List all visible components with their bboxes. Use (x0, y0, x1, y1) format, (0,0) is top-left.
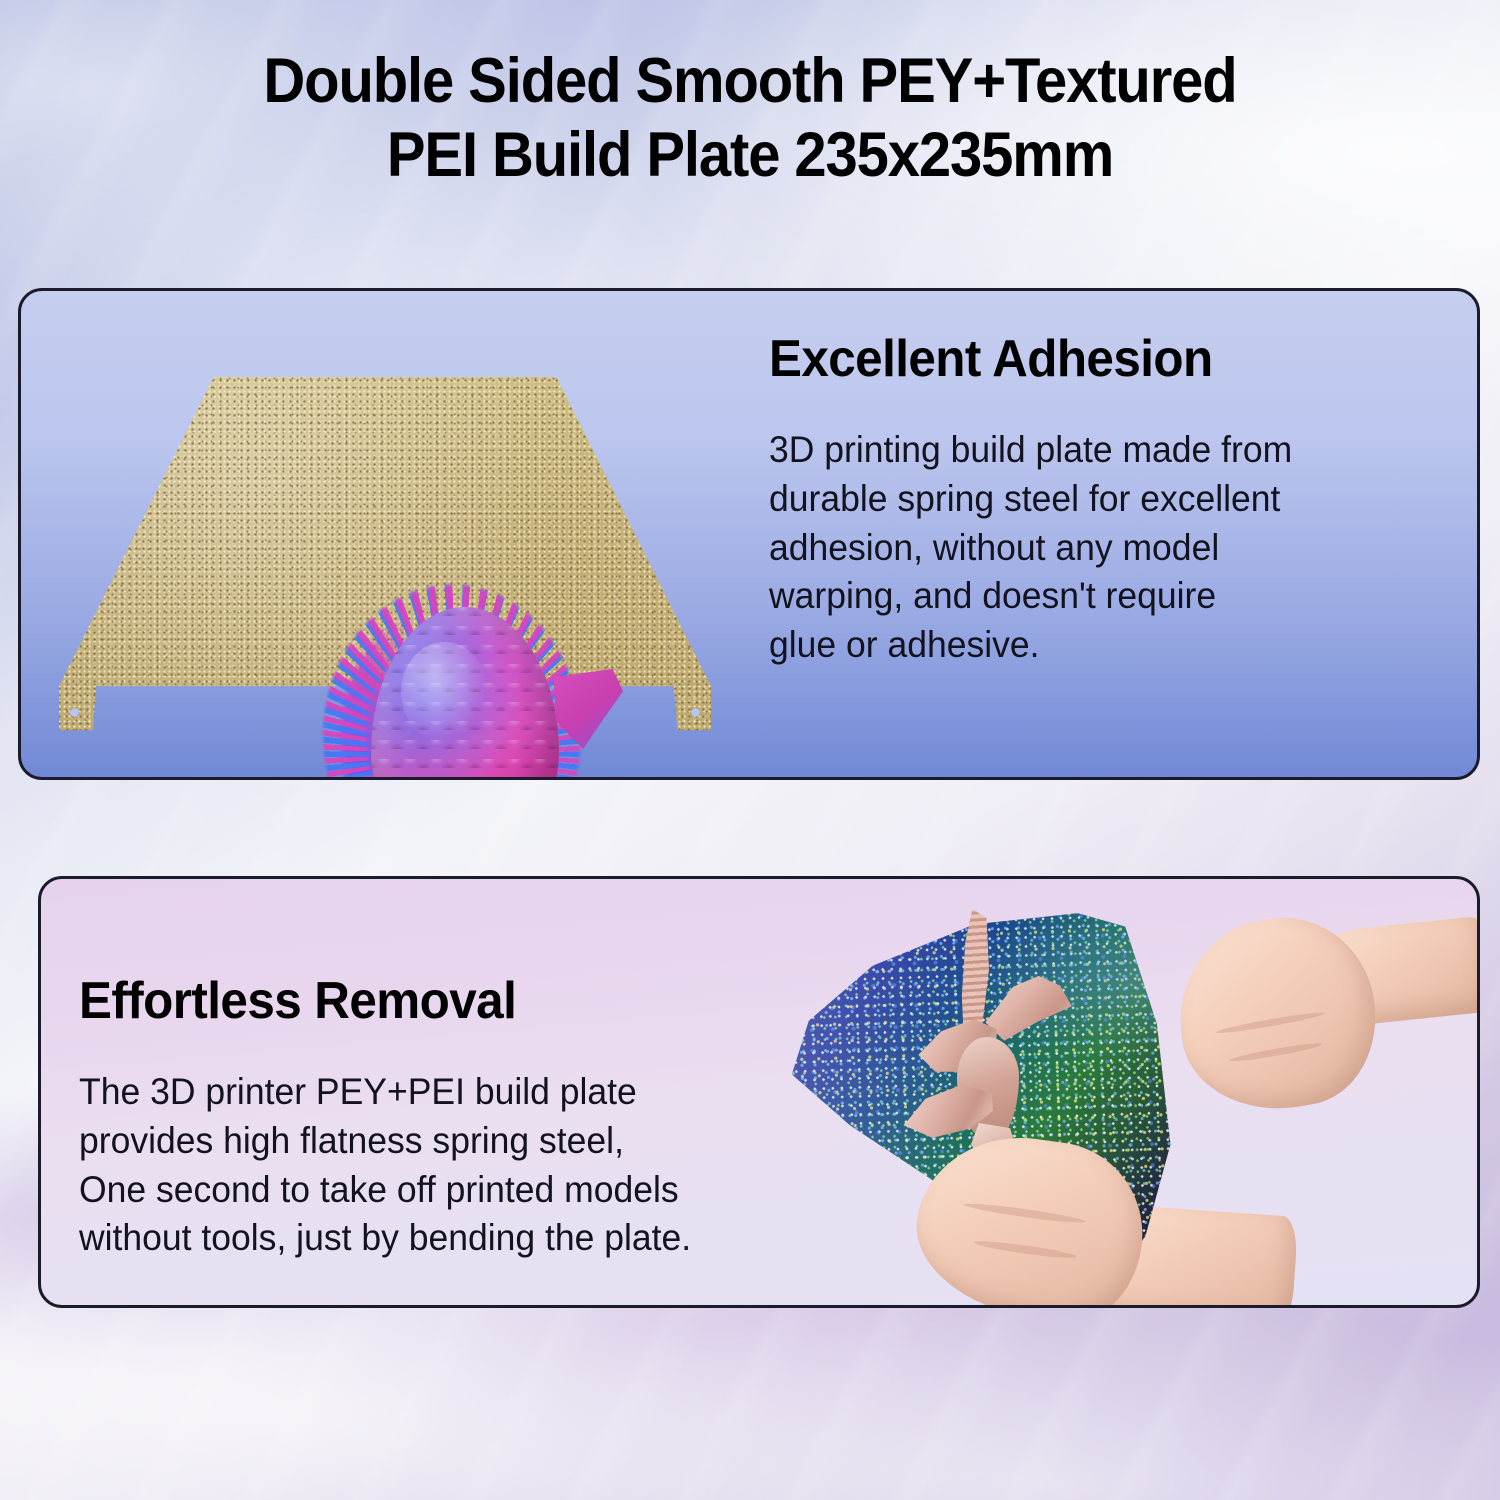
adhesion-heading: Excellent Adhesion (769, 329, 1425, 389)
bending-plate-figure (781, 891, 1480, 1308)
adhesion-copy-block: Excellent Adhesion 3D printing build pla… (769, 329, 1459, 707)
finger-crease (973, 1238, 1077, 1260)
textured-pei-plate (31, 291, 737, 777)
page-title: Double Sided Smooth PEY+Textured PEI Bui… (60, 44, 1440, 193)
finger-crease (1229, 1041, 1323, 1064)
finger-crease (1216, 1010, 1325, 1036)
removal-heading: Effortless Removal (79, 971, 839, 1031)
plate-mount-hole-left (70, 708, 79, 717)
printed-dragon-egg-model (131, 291, 431, 621)
egg-highlight (401, 642, 487, 742)
removal-body-text: The 3D printer PEY+PEI build plate provi… (79, 1068, 847, 1263)
removal-copy-block: Effortless Removal The 3D printer PEY+PE… (79, 971, 879, 1300)
finger-crease (964, 1201, 1086, 1226)
product-infographic: Double Sided Smooth PEY+Textured PEI Bui… (0, 0, 1500, 1500)
adhesion-body-text: 3D printing build plate made from durabl… (769, 426, 1431, 670)
feature-panel-adhesion: Excellent Adhesion 3D printing build pla… (18, 288, 1480, 780)
holographic-plate-scene (781, 891, 1480, 1308)
build-plate-figure (31, 291, 737, 777)
feature-panel-removal: Effortless Removal The 3D printer PEY+PE… (38, 876, 1480, 1308)
